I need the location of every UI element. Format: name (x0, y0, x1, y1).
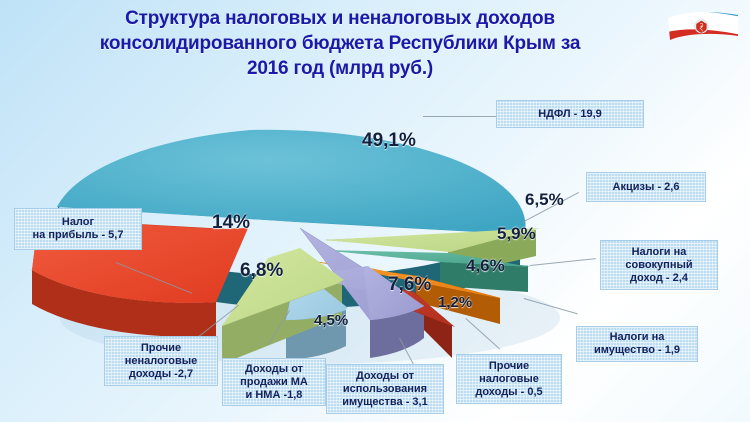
pct-label-ispolzovanie: 7,6% (388, 274, 431, 296)
pct-label-prochie-nenalogovye: 6,8% (240, 260, 283, 282)
pct-label-sovokupnyy: 5,9% (497, 224, 536, 244)
pct-label-prodazha: 4,5% (314, 312, 348, 329)
slide-canvas: Структура налоговых и неналоговых доходо… (0, 0, 750, 422)
callout-ndfl[interactable]: НДФЛ - 19,9 (496, 100, 644, 128)
callout-pribyl[interactable]: Налог на прибыль - 5,7 (14, 208, 142, 250)
pct-label-pribyl: 14% (212, 212, 250, 234)
callout-imushchestvo[interactable]: Налоги на имущество - 1,9 (576, 326, 698, 362)
title-line-2: консолидированного бюджета Республики Кр… (40, 31, 640, 56)
callout-prodazha[interactable]: Доходы от продажи МА и НМА -1,8 (222, 358, 326, 406)
leader-line-ndfl (423, 116, 497, 117)
pct-label-prochie-nalogovye: 1,2% (438, 294, 472, 311)
callout-sovokupnyy[interactable]: Налоги на совокупный доход - 2,4 (600, 240, 718, 290)
title-line-1: Структура налоговых и неналоговых доходо… (40, 6, 640, 31)
crimea-coat-of-arms (695, 20, 709, 34)
pct-label-akcizy: 6,5% (525, 190, 564, 210)
crimea-flag-icon (664, 6, 742, 48)
callout-akcizy[interactable]: Акцизы - 2,6 (586, 172, 706, 202)
callout-ispolzovanie[interactable]: Доходы от использования имущества - 3,1 (326, 364, 444, 414)
pct-label-imushchestvo: 4,6% (466, 256, 505, 276)
pct-label-ndfl: 49,1% (362, 130, 416, 152)
callout-prochie-nalogovye[interactable]: Прочие налоговые доходы - 0,5 (456, 354, 562, 404)
callout-prochie-nenalogovye[interactable]: Прочие неналоговые доходы -2,7 (104, 336, 218, 386)
